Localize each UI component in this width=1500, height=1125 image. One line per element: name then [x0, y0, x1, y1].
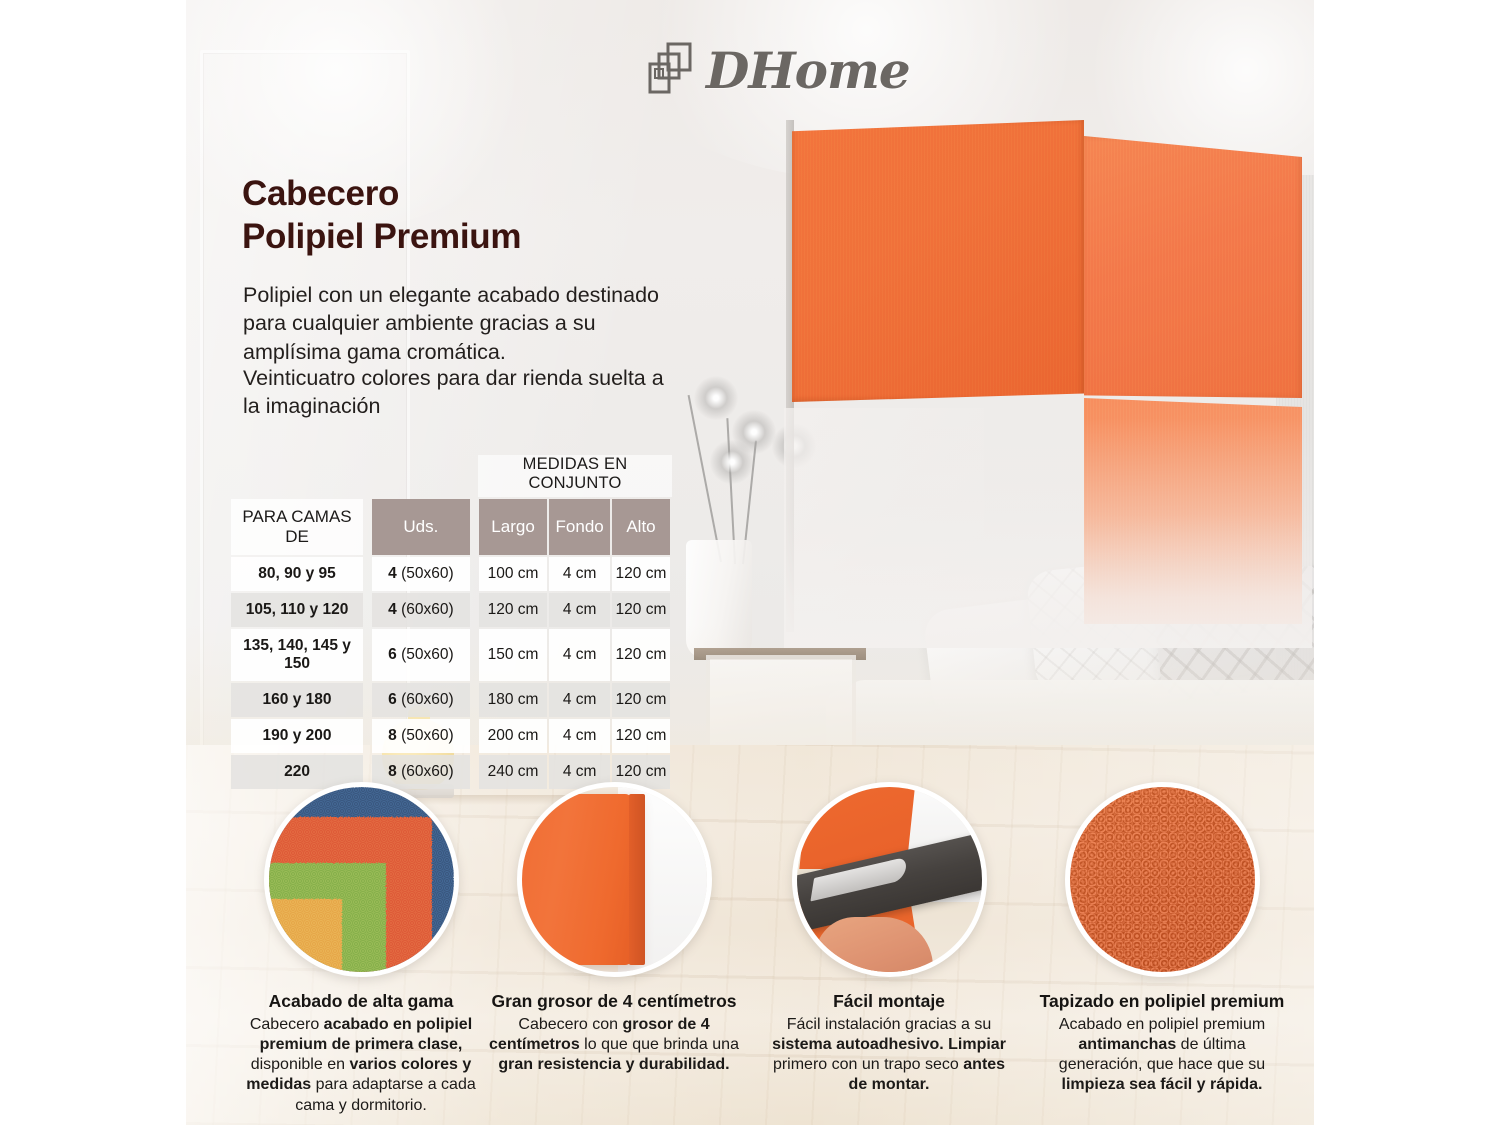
cell-alto: 120 cm — [612, 629, 670, 681]
table-head: PARA CAMAS DE Uds. Largo Fondo Alto — [231, 499, 670, 555]
col-header-alto: Alto — [612, 499, 670, 555]
dandelion-icon — [694, 376, 738, 420]
headboard-panel-bottom-left — [792, 402, 1084, 638]
cell-camas: 80, 90 y 95 — [231, 557, 363, 591]
finger — [820, 971, 838, 977]
feature-body: Acabado en polipiel premium antimanchas … — [1037, 1015, 1287, 1096]
cell-spacer — [365, 629, 370, 681]
cell-spacer — [365, 593, 370, 627]
title-line-1: Cabecero — [242, 172, 672, 215]
title-line-2: Polipiel Premium — [242, 215, 672, 258]
orange-panel — [517, 794, 633, 964]
feature-title: Acabado de alta gama — [236, 991, 486, 1012]
orange-headboard-panels — [792, 118, 1314, 638]
cell-uds: 6 (50x60) — [372, 629, 469, 681]
swatch-yellow — [264, 899, 342, 977]
col-header-uds: Uds. — [372, 499, 469, 555]
feature-title: Tapizado en polipiel premium — [1037, 991, 1287, 1012]
fabric-swatches-icon — [264, 782, 459, 977]
table-group-header-row: MEDIDAS EN CONJUNTO — [229, 455, 672, 497]
feature-body: Cabecero con grosor de 4 centímetros lo … — [489, 1015, 739, 1075]
leather-surface — [1070, 787, 1255, 972]
feature-body: Fácil instalación gracias a su sistema a… — [764, 1015, 1014, 1096]
feature-card-4: Tapizado en polipiel premium Acabado en … — [1037, 782, 1287, 1096]
col-header-camas: PARA CAMAS DE — [231, 499, 363, 555]
cell-spacer — [365, 719, 370, 753]
cell-largo: 150 cm — [479, 629, 548, 681]
table-header-row: PARA CAMAS DE Uds. Largo Fondo Alto — [231, 499, 670, 555]
table-row: 80, 90 y 954 (50x60)100 cm4 cm120 cm — [231, 557, 670, 591]
cell-uds: 8 (50x60) — [372, 719, 469, 753]
headboard-panel-bottom-right — [1084, 398, 1302, 624]
page-title: Cabecero Polipiel Premium — [242, 172, 672, 259]
cell-uds: 4 (60x60) — [372, 593, 469, 627]
poster-left-margin — [0, 0, 186, 1125]
brand-name: DHome — [706, 41, 910, 100]
leather-texture-icon — [1065, 782, 1260, 977]
cell-spacer — [472, 683, 477, 717]
cell-camas: 135, 140, 145 y 150 — [231, 629, 363, 681]
col-header-fondo: Fondo — [549, 499, 610, 555]
brand-logo: DHome — [646, 36, 910, 104]
feature-card-2: Gran grosor de 4 centímetros Cabecero co… — [489, 782, 739, 1075]
spec-table: PARA CAMAS DE Uds. Largo Fondo Alto 80, … — [229, 497, 672, 791]
cell-largo: 200 cm — [479, 719, 548, 753]
adhesive-mounting-icon — [792, 782, 987, 977]
specification-table: MEDIDAS EN CONJUNTO PARA CAMAS DE Uds. L… — [229, 455, 672, 791]
table-row: 135, 140, 145 y 1506 (50x60)150 cm4 cm12… — [231, 629, 670, 681]
nested-squares-icon — [646, 42, 694, 98]
panel-thickness-edge — [629, 794, 646, 964]
finger — [867, 971, 885, 977]
cell-spacer — [472, 629, 477, 681]
cell-camas: 105, 110 y 120 — [231, 593, 363, 627]
cell-spacer — [365, 683, 370, 717]
product-description-secondary: Veinticuatro colores para dar rienda sue… — [243, 364, 673, 421]
poster-canvas: DHome Cabecero Polipiel Premium Polipiel… — [0, 0, 1500, 1125]
cell-alto: 120 cm — [612, 593, 670, 627]
cell-spacer — [472, 593, 477, 627]
cell-spacer — [365, 557, 370, 591]
table-row: 105, 110 y 1204 (60x60)120 cm4 cm120 cm — [231, 593, 670, 627]
finger — [891, 971, 909, 977]
cell-largo: 180 cm — [479, 683, 548, 717]
folded-panel-icon — [517, 782, 712, 977]
finger — [843, 971, 861, 977]
table-row: 190 y 2008 (50x60)200 cm4 cm120 cm — [231, 719, 670, 753]
cell-alto: 120 cm — [612, 683, 670, 717]
headboard-panel-top-right — [1084, 136, 1302, 398]
col-spacer — [472, 499, 477, 555]
poster-right-margin — [1314, 0, 1500, 1125]
cell-camas: 190 y 200 — [231, 719, 363, 753]
table-row: 160 y 1806 (60x60)180 cm4 cm120 cm — [231, 683, 670, 717]
cell-spacer — [472, 719, 477, 753]
feature-body: Cabecero acabado en polipiel premium de … — [236, 1015, 486, 1116]
cell-fondo: 4 cm — [549, 557, 610, 591]
cell-spacer — [472, 557, 477, 591]
cell-largo: 100 cm — [479, 557, 548, 591]
feature-card-1: Acabado de alta gama Cabecero acabado en… — [236, 782, 486, 1116]
cell-alto: 120 cm — [612, 557, 670, 591]
feature-title: Fácil montaje — [764, 991, 1014, 1012]
cell-fondo: 4 cm — [549, 683, 610, 717]
cell-largo: 120 cm — [479, 593, 548, 627]
table-group-header-label: MEDIDAS EN CONJUNTO — [478, 455, 672, 497]
cell-fondo: 4 cm — [549, 629, 610, 681]
col-spacer — [365, 499, 370, 555]
dandelion-icon — [710, 440, 754, 484]
cell-fondo: 4 cm — [549, 719, 610, 753]
feature-title: Gran grosor de 4 centímetros — [489, 991, 739, 1012]
cell-alto: 120 cm — [612, 719, 670, 753]
table-group-spacer — [229, 455, 478, 497]
feature-card-3: Fácil montaje Fácil instalación gracias … — [764, 782, 1014, 1096]
cell-fondo: 4 cm — [549, 593, 610, 627]
col-header-largo: Largo — [479, 499, 548, 555]
table-body: 80, 90 y 954 (50x60)100 cm4 cm120 cm105,… — [231, 557, 670, 789]
cell-uds: 4 (50x60) — [372, 557, 469, 591]
product-description-primary: Polipiel con un elegante acabado destina… — [243, 281, 673, 366]
cell-camas: 160 y 180 — [231, 683, 363, 717]
cell-uds: 6 (60x60) — [372, 683, 469, 717]
headboard-panel-top-left — [792, 120, 1084, 402]
